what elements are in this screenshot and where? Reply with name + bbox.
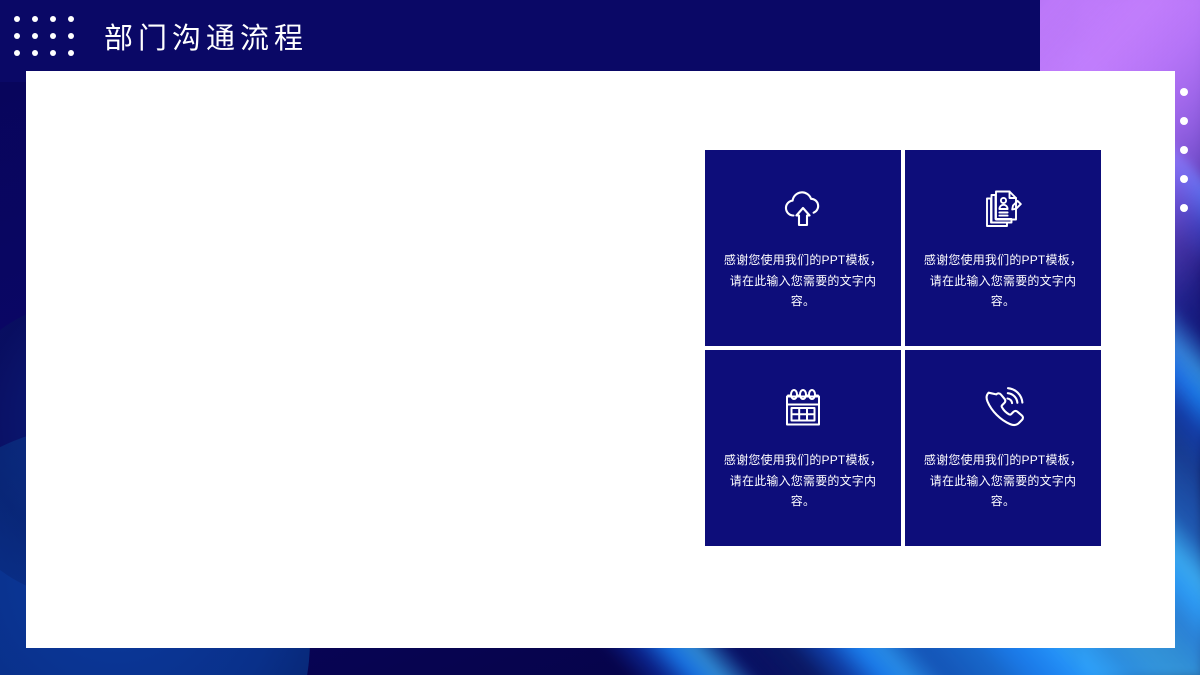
- feature-card-1[interactable]: 感谢您使用我们的PPT模板，请在此输入您需要的文字内容。: [705, 150, 901, 346]
- feature-card-text: 感谢您使用我们的PPT模板，请在此输入您需要的文字内容。: [719, 450, 887, 512]
- resume-document-edit-icon: [980, 186, 1026, 232]
- calendar-icon: [780, 386, 826, 432]
- feature-card-text: 感谢您使用我们的PPT模板，请在此输入您需要的文字内容。: [719, 250, 887, 312]
- edge-dot-icon: [1180, 88, 1188, 96]
- slide-root: 部门沟通流程 请在此输入标题文字 感谢您使用我们的PPT模板，请在此输入您需要的…: [0, 0, 1200, 675]
- edge-dot-icon: [1180, 146, 1188, 154]
- feature-card-text: 感谢您使用我们的PPT模板，请在此输入您需要的文字内容。: [919, 250, 1087, 312]
- slide-header: 部门沟通流程: [0, 0, 308, 71]
- feature-card-grid: 感谢您使用我们的PPT模板，请在此输入您需要的文字内容。 感谢您使用我们的PPT…: [705, 150, 1101, 546]
- feature-card-text: 感谢您使用我们的PPT模板，请在此输入您需要的文字内容。: [919, 450, 1087, 512]
- phone-call-icon: [980, 386, 1026, 432]
- page-title: 部门沟通流程: [104, 15, 308, 57]
- edge-dot-column: [1180, 88, 1188, 212]
- cloud-upload-icon: [780, 186, 826, 232]
- feature-card-2[interactable]: 感谢您使用我们的PPT模板，请在此输入您需要的文字内容。: [905, 150, 1101, 346]
- edge-dot-icon: [1180, 204, 1188, 212]
- feature-card-4[interactable]: 感谢您使用我们的PPT模板，请在此输入您需要的文字内容。: [905, 350, 1101, 546]
- edge-dot-icon: [1180, 117, 1188, 125]
- edge-dot-icon: [1180, 175, 1188, 183]
- dot-grid-icon: [14, 16, 74, 56]
- feature-card-3[interactable]: 感谢您使用我们的PPT模板，请在此输入您需要的文字内容。: [705, 350, 901, 546]
